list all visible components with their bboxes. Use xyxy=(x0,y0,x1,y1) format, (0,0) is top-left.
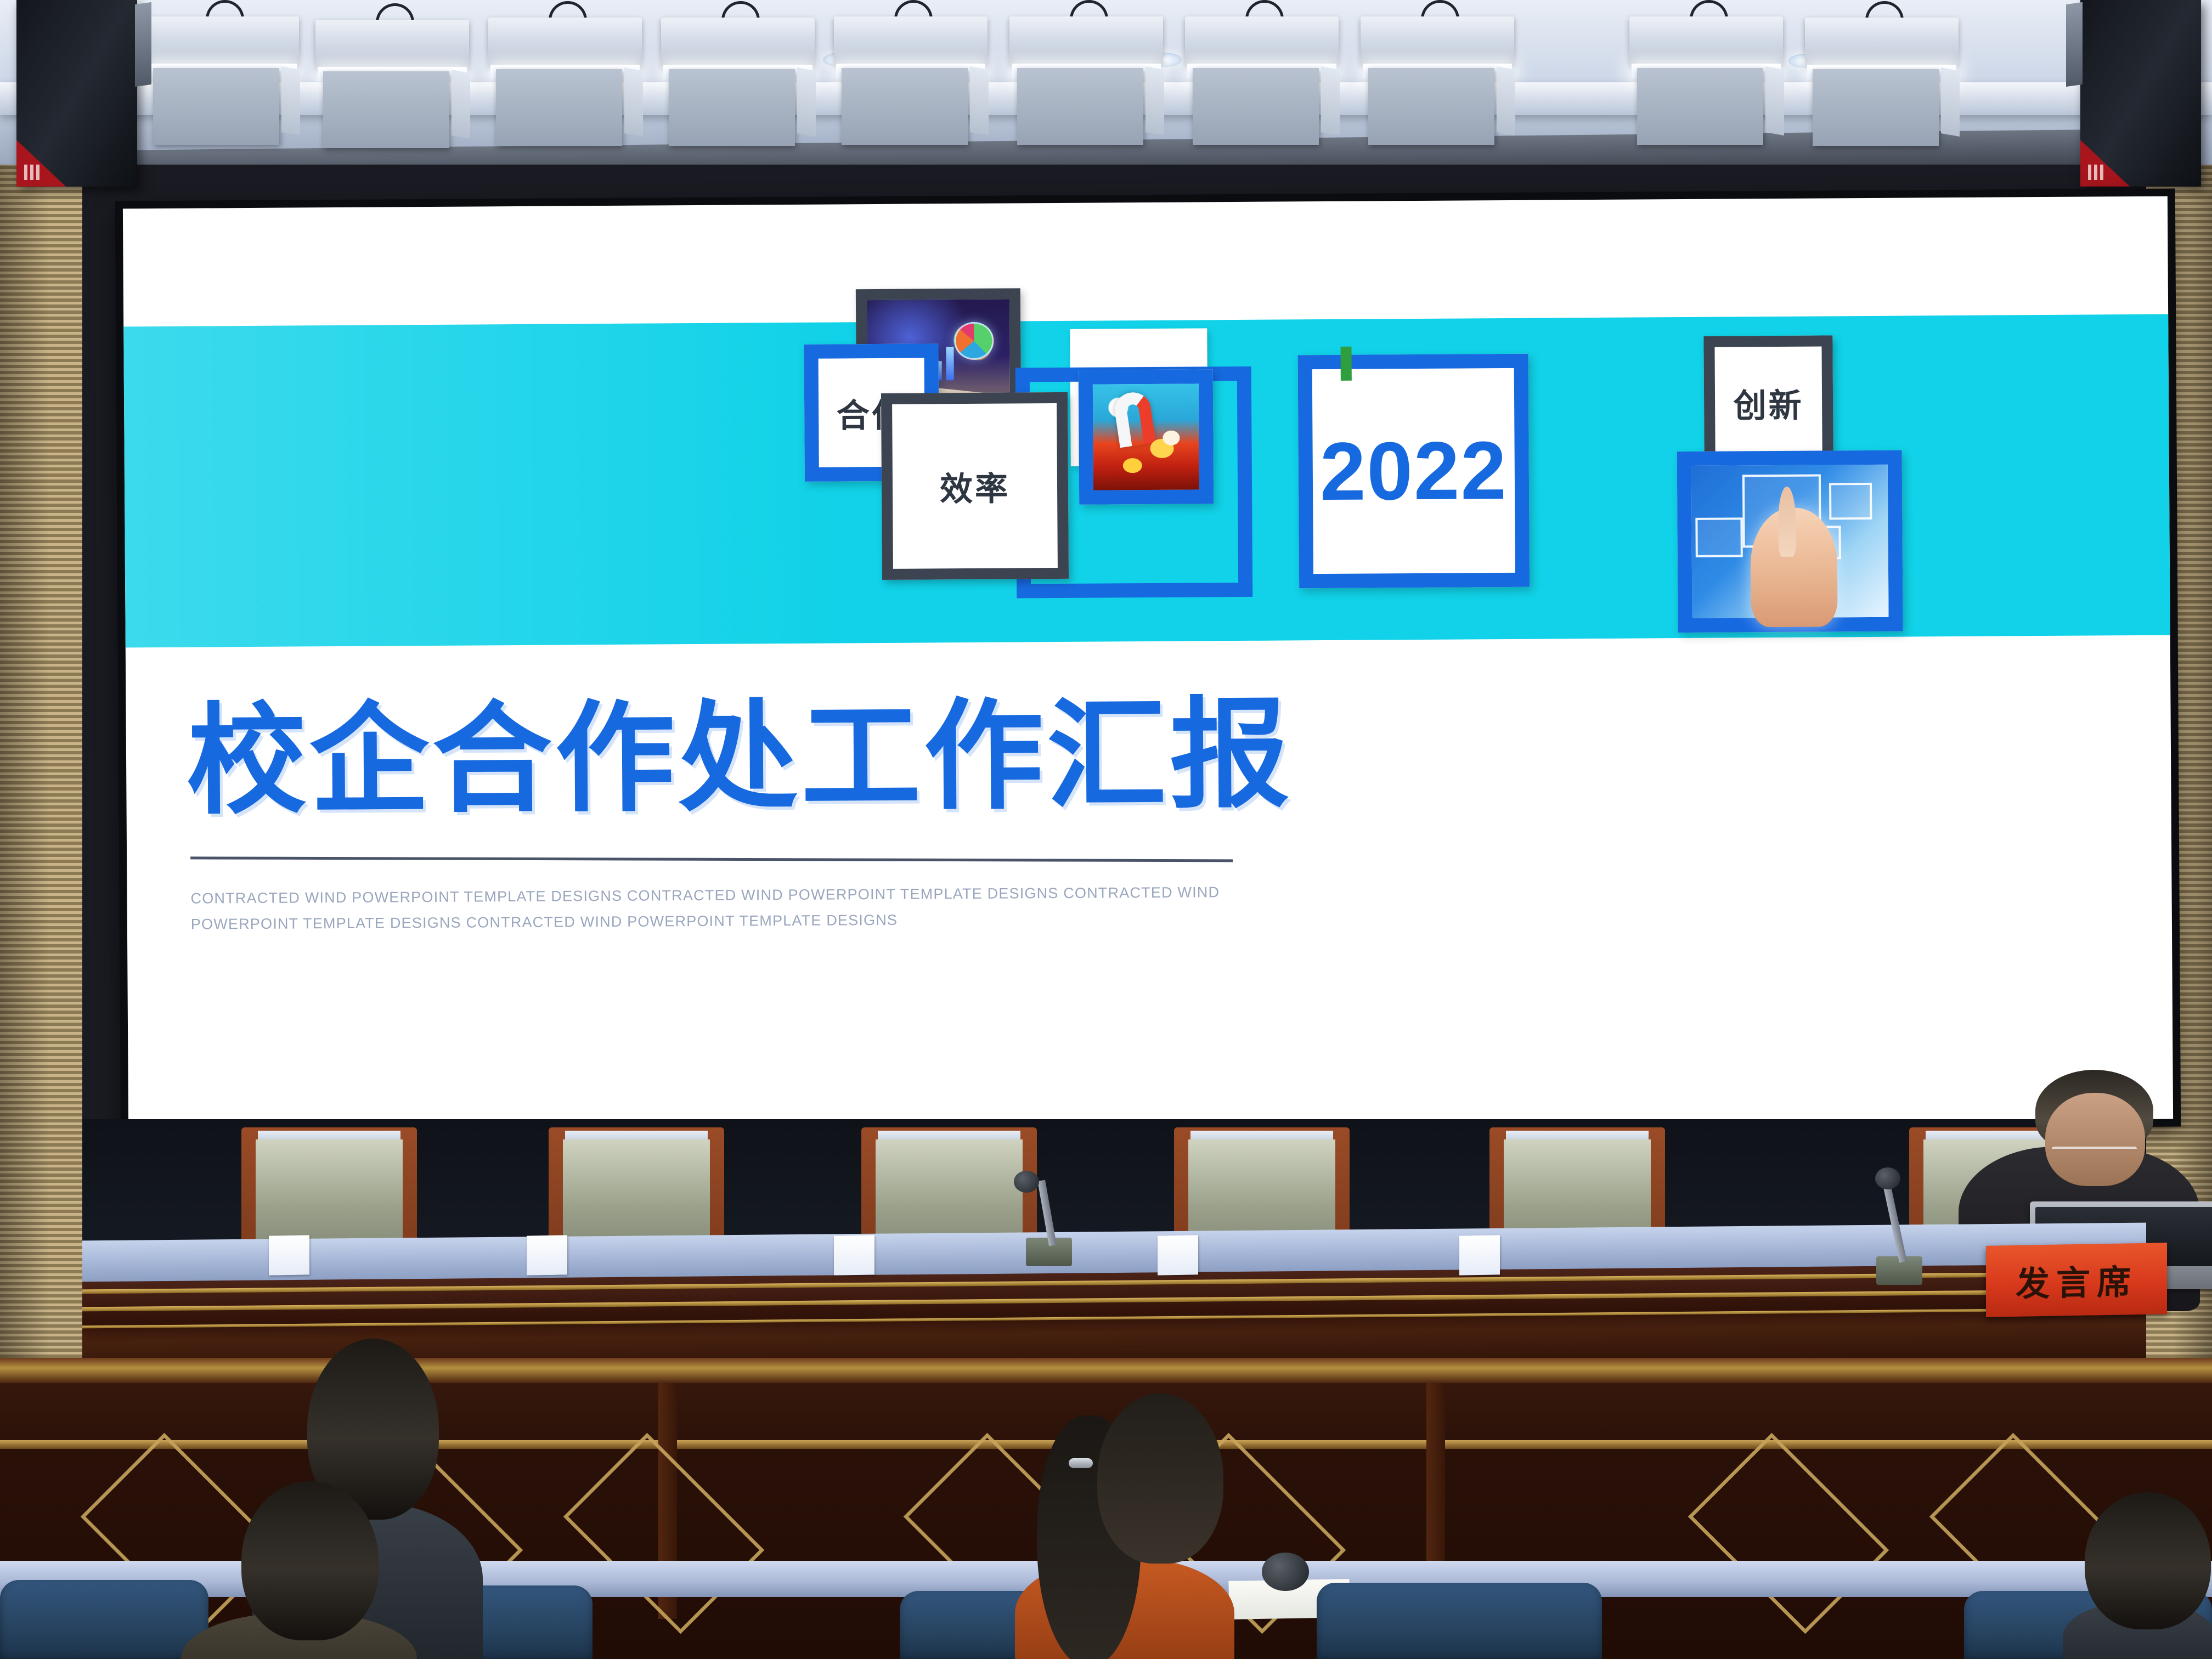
hook-graphic xyxy=(1113,390,1156,448)
finger-graphic xyxy=(1778,487,1796,557)
barn-door xyxy=(1368,68,1494,145)
attendee-head xyxy=(1097,1393,1223,1564)
ceiling xyxy=(0,0,2212,165)
slide-subtitle: CONTRACTED WIND POWERPOINT TEMPLATE DESI… xyxy=(190,879,1261,938)
stage-light xyxy=(140,0,304,132)
year-label: 2022 xyxy=(1319,423,1508,519)
barn-door xyxy=(1637,68,1763,145)
speaker-side-panel xyxy=(2066,2,2083,87)
barn-door-side xyxy=(624,67,643,137)
microphone-head xyxy=(1014,1171,1039,1193)
ceiling-speaker-left xyxy=(16,0,137,187)
audience-attendee xyxy=(2063,1492,2212,1659)
barn-door-side xyxy=(1765,66,1784,136)
stage-light xyxy=(1004,0,1169,132)
presentation-slide: 合作 效率 2022 xyxy=(123,196,2173,1132)
keyword-label-efficiency: 效率 xyxy=(940,462,1011,510)
apron-diamond-trim xyxy=(1688,1433,1889,1634)
table-gold-trim xyxy=(82,1308,2146,1329)
barn-door xyxy=(1813,69,1939,146)
barn-door-side xyxy=(1941,67,1960,137)
light-housing xyxy=(1009,16,1163,66)
barn-door-side xyxy=(970,66,989,136)
lava-hook-photo xyxy=(1093,383,1199,490)
barn-door xyxy=(842,68,968,145)
barn-door xyxy=(496,69,622,146)
speaker-logo-bars xyxy=(24,165,39,180)
stage-light xyxy=(1624,0,1788,132)
barn-door xyxy=(1193,68,1319,145)
auditorium-seat xyxy=(0,1580,208,1659)
ui-rectangle-graphic xyxy=(1696,517,1743,557)
stage-light xyxy=(828,0,993,132)
table-name-card xyxy=(834,1235,874,1275)
year-box: 2022 xyxy=(1298,354,1530,589)
attendee-head xyxy=(2085,1492,2211,1629)
light-housing xyxy=(488,18,642,67)
barn-door xyxy=(323,71,449,148)
audience-attendee xyxy=(1004,1393,1234,1659)
barn-door xyxy=(153,68,279,145)
stage-light xyxy=(310,3,475,135)
touchscreen-hand-photo xyxy=(1691,465,1889,618)
barn-door xyxy=(669,69,795,146)
apron-diamond-trim xyxy=(563,1433,765,1634)
pie-chart-graphic xyxy=(954,322,994,360)
lava-blob xyxy=(1123,458,1142,473)
ui-rectangle-graphic xyxy=(1829,483,1872,520)
light-housing xyxy=(1805,18,1959,67)
light-housing xyxy=(834,16,988,66)
stage-light xyxy=(656,1,820,133)
stage-light xyxy=(1799,1,1964,133)
barn-door xyxy=(1017,68,1143,145)
barn-door-side xyxy=(1145,66,1164,136)
ceiling-speaker-right xyxy=(2080,0,2201,187)
speaker-logo-bars xyxy=(2088,165,2103,180)
auditorium-seat xyxy=(1317,1583,1602,1659)
speaker-side-panel xyxy=(135,2,151,87)
stage-light xyxy=(1180,0,1344,132)
barn-door-side xyxy=(452,70,470,139)
microphone-head xyxy=(1875,1167,1900,1189)
presenter-glasses xyxy=(2052,1147,2137,1154)
light-housing xyxy=(315,20,469,69)
stage-light xyxy=(1355,0,1520,132)
green-tab-marker xyxy=(1340,347,1351,381)
keyword-label-innovation: 创新 xyxy=(1733,379,1804,427)
attendee-hair-clip xyxy=(1069,1458,1093,1468)
barn-door-side xyxy=(281,66,300,136)
light-housing xyxy=(1361,16,1514,66)
keyword-box-efficiency: 效率 xyxy=(881,392,1069,580)
light-housing xyxy=(1185,16,1339,66)
light-housing xyxy=(1629,16,1783,66)
slide-title: 校企合作处工作汇报 xyxy=(186,695,1293,821)
audience-microphone-head xyxy=(1262,1553,1309,1591)
audience-attendee xyxy=(181,1481,417,1659)
title-divider-rule xyxy=(190,856,1233,862)
speaker-nameplate: 发言席 xyxy=(1986,1243,2167,1317)
light-housing xyxy=(661,18,815,67)
presenter-head xyxy=(2045,1093,2145,1186)
table-name-card xyxy=(1158,1235,1198,1275)
projection-screen: 合作 效率 2022 xyxy=(115,189,2181,1139)
attendee-head xyxy=(241,1481,379,1640)
lava-blob xyxy=(1163,431,1180,445)
table-name-card xyxy=(1459,1235,1500,1275)
touchscreen-hand-photo-frame xyxy=(1677,450,1903,633)
stage-light xyxy=(483,1,647,133)
light-housing xyxy=(145,16,299,66)
table-name-card xyxy=(527,1235,567,1275)
barn-door-side xyxy=(1321,66,1340,136)
conference-hall-room: 合作 效率 2022 xyxy=(0,0,2212,1659)
table-name-card xyxy=(269,1235,309,1275)
barn-door-side xyxy=(797,67,816,137)
barn-door-side xyxy=(1497,66,1515,136)
lava-hook-photo-frame xyxy=(1079,369,1214,504)
table-gold-trim xyxy=(82,1289,2146,1312)
